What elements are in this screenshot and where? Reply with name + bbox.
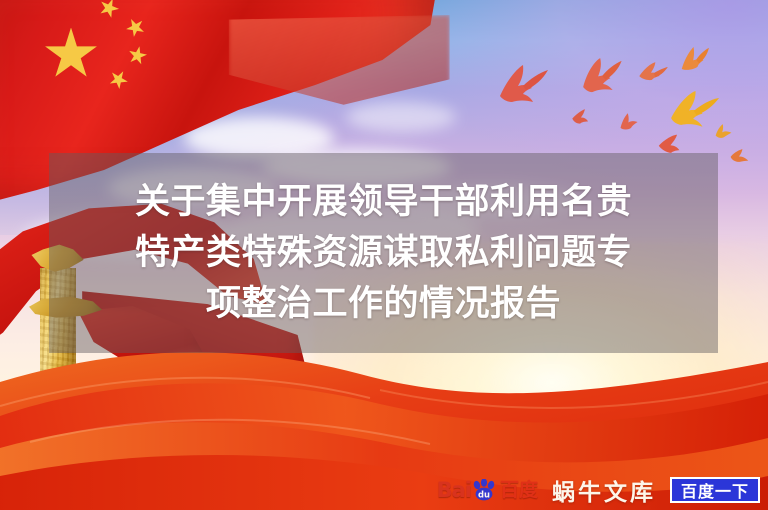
dove-icon [636, 58, 669, 86]
baidu-logo: Bai du 百度 [437, 479, 538, 501]
title-line-3: 项整治工作的情况报告 [206, 279, 561, 330]
baidu-wordmark-chinese: 百度 [500, 481, 538, 500]
dove-icon [713, 121, 735, 140]
poster-canvas: 关于集中开展领导干部利用名贵 特产类特殊资源谋取私利问题专 项整治工作的情况报告… [0, 0, 768, 510]
title-line-1: 关于集中开展领导干部利用名贵 [135, 177, 632, 228]
poster-title: 关于集中开展领导干部利用名贵 特产类特殊资源谋取私利问题专 项整治工作的情况报告 [49, 153, 718, 353]
flag-fold [229, 15, 450, 130]
watermark-bar: Bai du 百度 蜗牛文库 百度一下 [0, 470, 768, 510]
dove-icon [576, 53, 628, 98]
dove-icon [496, 62, 552, 106]
site-brand-watermark: 蜗牛文库 [552, 473, 656, 507]
title-line-2: 特产类特殊资源谋取私利问题专 [135, 228, 632, 279]
baidu-wordmark-latin: Bai [437, 480, 471, 501]
svg-text:du: du [478, 489, 490, 499]
baidu-paw-icon: du [472, 479, 497, 501]
baidu-search-button[interactable]: 百度一下 [670, 477, 760, 503]
